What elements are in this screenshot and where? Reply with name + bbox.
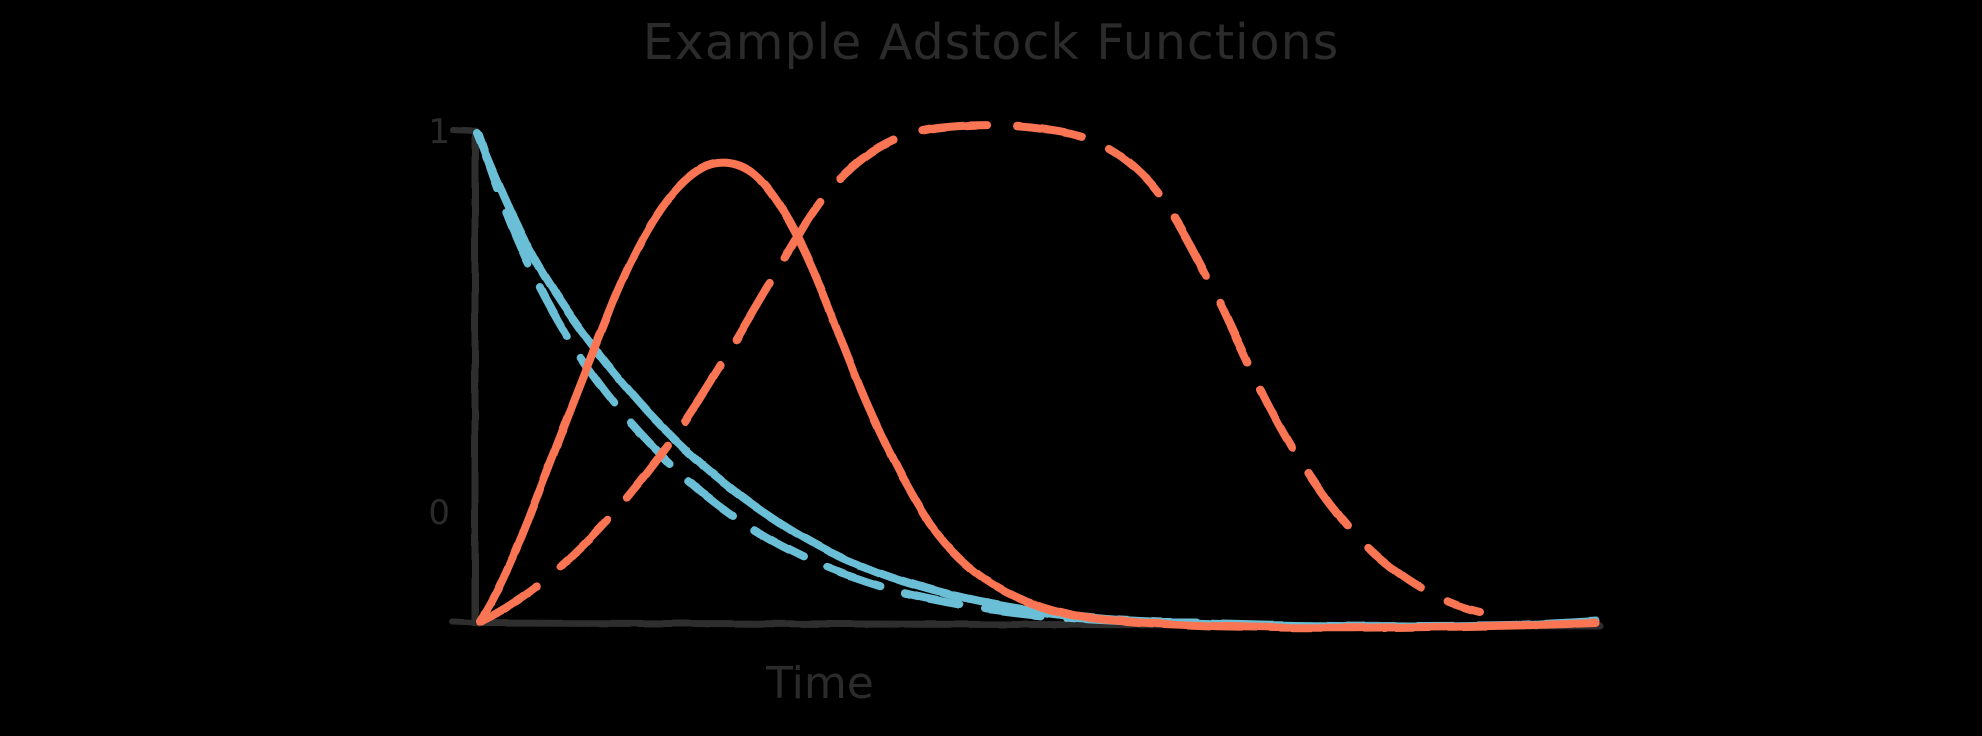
series-geometric-decay-solid [477,133,1596,626]
y-tick-1 [453,130,476,131]
page-title: Example Adstock Functions [0,14,1982,71]
y-tick-0 [452,622,476,623]
series-delayed-adstock-solid [480,163,1596,628]
series-delayed-adstock-dashed [482,125,1480,621]
x-axis-label: Time [700,658,940,709]
axis-group [452,130,1600,626]
y-axis-tick-label-1: 1 [410,112,450,152]
adstock-plot [0,0,1982,736]
series-group [477,125,1596,628]
chart-figure: Example Adstock Functions Time 1 0 [0,0,1982,736]
y-axis-tick-label-0: 0 [410,493,450,533]
